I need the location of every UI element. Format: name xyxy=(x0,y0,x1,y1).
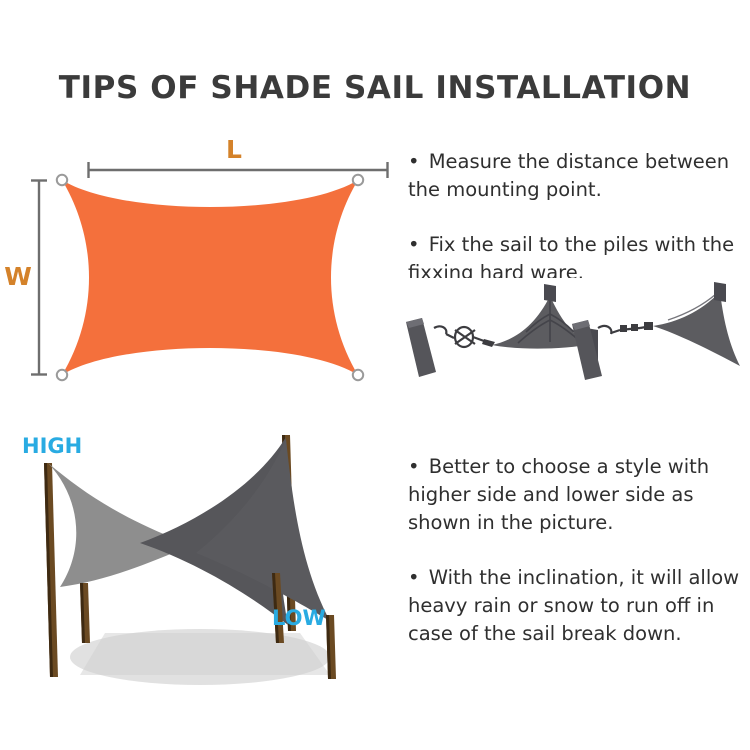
bullet-measure-text-2: the mounting point. xyxy=(408,176,750,204)
bullet-marker-icon: • xyxy=(408,233,423,256)
ground-shadow-quad xyxy=(80,633,330,675)
infographic-poster: TIPS OF SHADE SAIL INSTALLATION xyxy=(0,0,750,750)
chain-link-icon xyxy=(631,324,638,331)
bullet-inclination: • With the inclination, it will allow he… xyxy=(408,564,750,648)
page-title: TIPS OF SHADE SAIL INSTALLATION xyxy=(0,70,750,106)
top-bullets-panel: • Measure the distance between the mount… xyxy=(408,148,750,278)
bullet-measure-line-1: • Measure the distance between xyxy=(408,148,750,176)
bullet-inclination-line-1: • With the inclination, it will allow xyxy=(408,564,750,592)
section-inclination: HIGH LOW • Better to choose a style with… xyxy=(0,425,750,725)
shackle-icon xyxy=(644,322,653,330)
rectangular-sail-figure: L W xyxy=(0,130,400,405)
bullet-marker-icon: • xyxy=(408,150,423,173)
low-label: LOW xyxy=(272,606,326,630)
gray-shade-sail xyxy=(48,437,330,625)
width-label: W xyxy=(4,262,32,291)
bullet-fix-sail-line-1: • Fix the sail to the piles with the xyxy=(408,231,750,259)
turnbuckle-hardware-icon xyxy=(434,326,484,347)
mounting-post-left-icon xyxy=(406,318,436,377)
bullet-marker-icon: • xyxy=(408,455,423,478)
bullet-measure-text-1: Measure the distance between xyxy=(429,150,729,173)
bullet-marker-icon: • xyxy=(408,566,423,589)
bullet-measure: • Measure the distance between the mount… xyxy=(408,148,750,204)
bullet-choose-style-text-2: higher side and lower side as xyxy=(408,481,750,509)
bullet-choose-style: • Better to choose a style with higher s… xyxy=(408,453,750,537)
length-dimension-line xyxy=(88,162,388,178)
shackle-icon xyxy=(482,339,495,347)
width-dimension-line xyxy=(31,180,47,375)
chain-link-icon xyxy=(620,325,627,332)
bullet-inclination-text-2: heavy rain or snow to run off in xyxy=(408,592,750,620)
post-low-right xyxy=(326,615,336,679)
inclined-sail-figure: HIGH LOW xyxy=(0,425,400,725)
bullet-fix-sail-text-2: fixxing hard ware. xyxy=(408,259,750,278)
bullet-fix-sail: • Fix the sail to the piles with the fix… xyxy=(408,231,750,278)
section-measure-and-fix: L W • Measure the distance between the m… xyxy=(0,130,750,405)
bullet-choose-style-text-1: Better to choose a style with xyxy=(429,455,709,478)
sail-corner-right-icon xyxy=(653,282,740,366)
post-front-left xyxy=(44,463,58,677)
hardware-illustrations-svg xyxy=(400,280,750,385)
hardware-left-illustration xyxy=(406,284,598,377)
bullet-choose-style-text-3: shown in the picture. xyxy=(408,509,750,537)
inclined-sail-svg: HIGH LOW xyxy=(0,425,400,725)
sail-wing-light xyxy=(48,463,192,587)
length-label: L xyxy=(226,135,242,164)
bullet-fix-sail-text-1: Fix the sail to the piles with the xyxy=(429,233,734,256)
bottom-bullets-panel: • Better to choose a style with higher s… xyxy=(408,453,750,663)
bullet-choose-style-line-1: • Better to choose a style with xyxy=(408,453,750,481)
post-front-short-left xyxy=(80,583,90,643)
rectangular-sail-svg: L W xyxy=(0,130,400,405)
high-label: HIGH xyxy=(22,434,82,458)
bullet-inclination-text-1: With the inclination, it will allow xyxy=(429,566,739,589)
orange-sail-body xyxy=(62,180,358,375)
bullet-inclination-text-3: case of the sail break down. xyxy=(408,620,750,648)
